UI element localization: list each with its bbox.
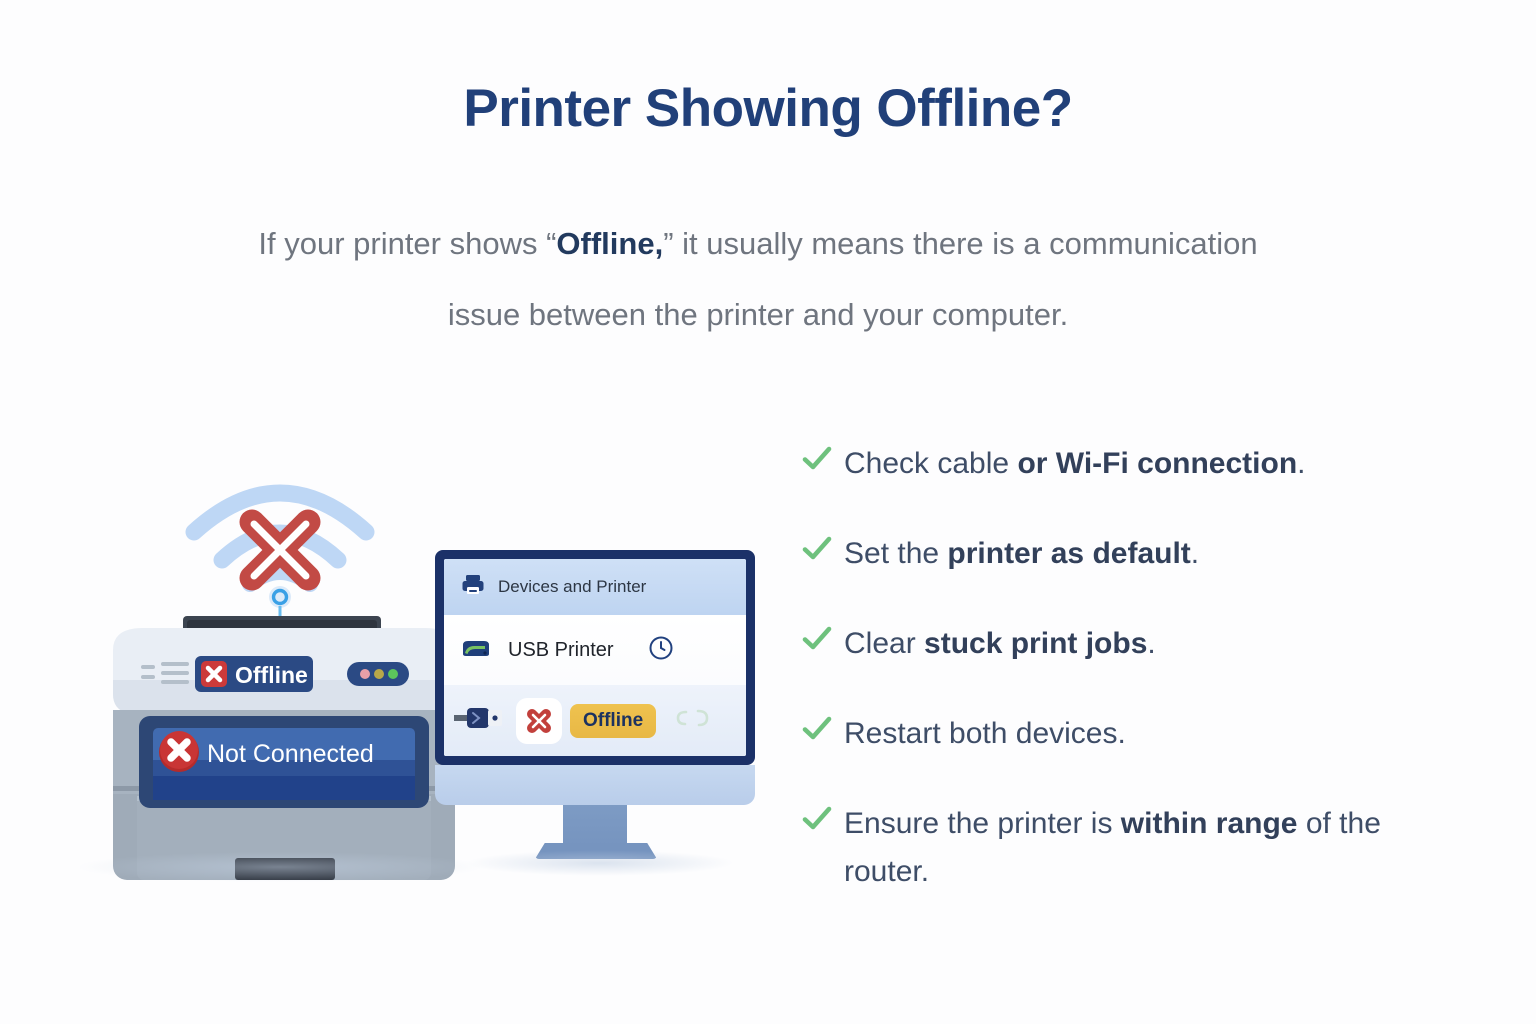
list-item-prefix: Ensure the printer is [844,807,1121,840]
monitor-chin [435,765,755,805]
list-item: Ensure the printer is within range of th… [800,800,1440,896]
list-item-suffix: . [1297,447,1305,480]
svg-text:Offline: Offline [235,662,308,688]
svg-text:Not Connected: Not Connected [207,740,374,768]
monitor-screen: Devices and Printer USB Printer [435,550,755,765]
devices-and-printers-window: Devices and Printer USB Printer [444,559,746,756]
device-status-row: Offline [444,685,746,756]
usb-plug-icon [454,703,508,738]
list-item: Set the printer as default. [800,530,1440,578]
list-item-suffix: . [1147,627,1155,660]
list-item-text: Clear stuck print jobs. [844,620,1156,668]
window-header-row: Devices and Printer [444,559,746,615]
window-header-label: Devices and Printer [498,577,646,597]
list-item-bold: printer as default [947,537,1190,570]
page-subtitle: If your printer shows “Offline,” it usua… [228,208,1288,350]
list-item-prefix: Set the [844,537,947,570]
list-item-text: Restart both devices. [844,710,1126,758]
error-x-icon [516,698,562,744]
page-title: Printer Showing Offline? [0,78,1536,139]
list-item-prefix: Restart both devices. [844,717,1126,750]
list-item: Check cable or Wi-Fi connection. [800,440,1440,488]
list-item-text: Check cable or Wi-Fi connection. [844,440,1306,488]
clock-icon[interactable] [648,635,674,666]
monitor-device: Devices and Printer USB Printer [435,550,775,870]
printer-icon [460,572,486,603]
printer-offline-illustration: Not Connected Offline [60,420,820,940]
device-row-label: USB Printer [508,639,614,662]
list-item: Clear stuck print jobs. [800,620,1440,668]
refresh-icon[interactable] [670,704,714,737]
device-row[interactable]: USB Printer [444,615,746,685]
monitor-shadow [465,850,735,876]
list-item-prefix: Clear [844,627,924,660]
list-item-bold: or Wi-Fi connection [1017,447,1297,480]
list-item-text: Ensure the printer is within range of th… [844,800,1404,896]
list-item: Restart both devices. [800,710,1440,758]
list-item-prefix: Check cable [844,447,1017,480]
usb-printer-icon [460,635,492,666]
troubleshooting-checklist: Check cable or Wi-Fi connection. Set the… [800,440,1440,938]
subtitle-emphasis: Offline, [556,226,663,261]
wifi-no-connection-icon [170,460,390,620]
monitor-stand-neck [563,805,627,847]
list-item-bold: within range [1121,807,1298,840]
subtitle-part-1: If your printer shows “ [258,226,556,261]
list-item-suffix: . [1191,537,1199,570]
list-item-bold: stuck print jobs [924,627,1147,660]
offline-status-badge: Offline [570,704,656,738]
printer-shadow [80,852,480,882]
list-item-text: Set the printer as default. [844,530,1199,578]
